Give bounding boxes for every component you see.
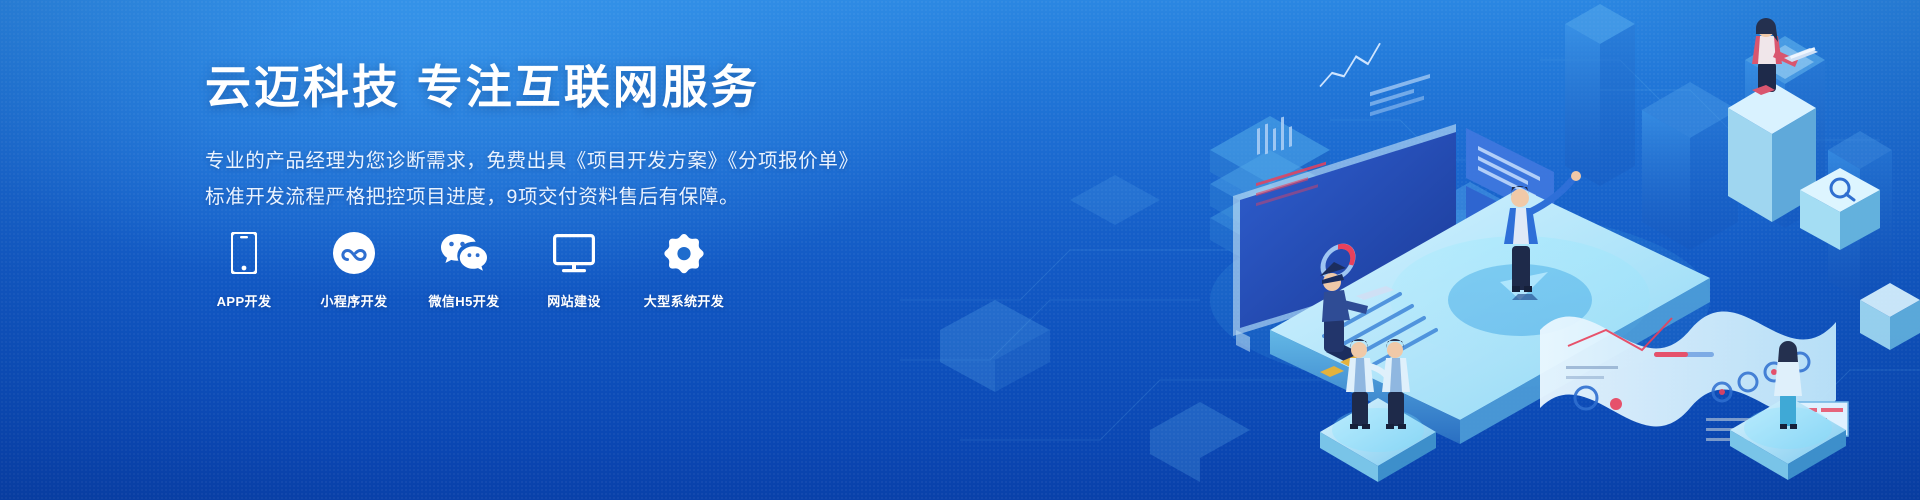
service-item-wechat-h5[interactable]: 微信H5开发	[425, 228, 503, 310]
service-label: 大型系统开发	[644, 291, 724, 310]
service-item-large-system[interactable]: 大型系统开发	[645, 228, 723, 310]
isometric-tech-city-illustration	[900, 0, 1920, 500]
service-label: 微信H5开发	[428, 291, 499, 310]
hero-copy-block: 云迈科技 专注互联网服务 专业的产品经理为您诊断需求，免费出具《项目开发方案》《…	[205, 60, 965, 215]
wechat-icon	[440, 228, 488, 274]
background-iso-blocks	[940, 175, 1250, 482]
service-list: APP开发 小程序开发 微信	[205, 228, 723, 310]
service-label: 网站建设	[547, 291, 601, 310]
hero-banner: 云迈科技 专注互联网服务 专业的产品经理为您诊断需求，免费出具《项目开发方案》《…	[0, 0, 1920, 500]
gear-icon	[664, 228, 704, 274]
mini-program-icon	[333, 228, 375, 274]
subcopy-line-2: 标准开发流程严格把控项目进度，9项交付资料售后有保障。	[205, 179, 965, 215]
hero-subcopy: 专业的产品经理为您诊断需求，免费出具《项目开发方案》《分项报价单》 标准开发流程…	[205, 143, 965, 215]
page-title: 云迈科技 专注互联网服务	[205, 60, 965, 115]
service-item-app[interactable]: APP开发	[205, 228, 283, 310]
service-item-miniprogram[interactable]: 小程序开发	[315, 228, 393, 310]
mobile-phone-icon	[231, 228, 257, 274]
service-label: APP开发	[217, 291, 272, 310]
monitor-icon	[553, 228, 595, 274]
service-item-website[interactable]: 网站建设	[535, 228, 613, 310]
subcopy-line-1: 专业的产品经理为您诊断需求，免费出具《项目开发方案》《分项报价单》	[205, 143, 965, 179]
service-label: 小程序开发	[320, 291, 387, 310]
